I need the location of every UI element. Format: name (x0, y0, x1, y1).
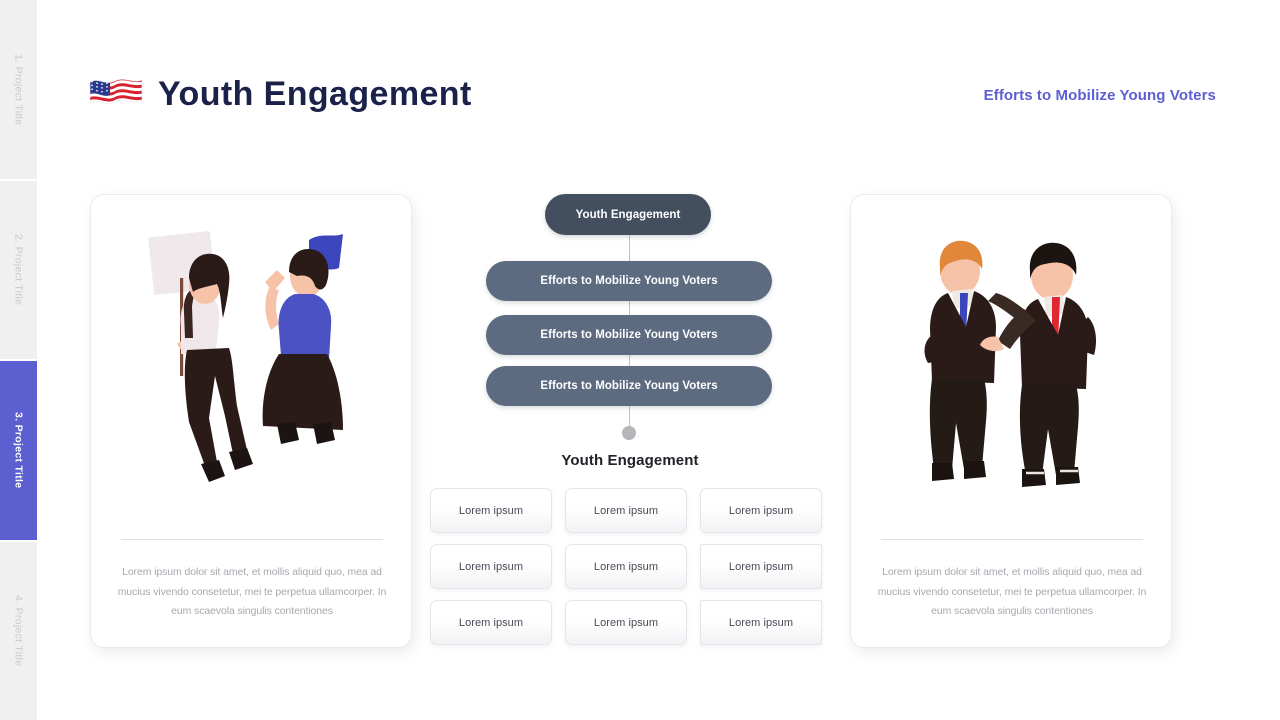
sidebar-item-project-4[interactable]: 4. Project Title (0, 542, 37, 720)
sidebar-item-project-2[interactable]: 2. Project Title (0, 181, 37, 360)
sidebar-item-label: 4. Project Title (13, 595, 25, 666)
flow-branch-node-1[interactable]: Efforts to Mobilize Young Voters (486, 261, 772, 301)
flow-branch-node-2[interactable]: Efforts to Mobilize Young Voters (486, 315, 772, 355)
grid-card[interactable]: Lorem ipsum (430, 488, 552, 533)
grid-card[interactable]: Lorem ipsum (700, 488, 822, 533)
sidebar-item-label: 3. Project Title (13, 412, 25, 488)
flow-branch-node-3[interactable]: Efforts to Mobilize Young Voters (486, 366, 772, 406)
sidebar-item-label: 2. Project Title (13, 234, 25, 305)
us-flag-icon (88, 74, 144, 114)
title-group: Youth Engagement (88, 74, 472, 114)
two-women-protesting-illustration (91, 221, 412, 521)
grid-card[interactable]: Lorem ipsum (565, 488, 687, 533)
page-title: Youth Engagement (158, 75, 472, 114)
flow-root-node[interactable]: Youth Engagement (545, 194, 711, 235)
two-businessmen-shaking-hands-illustration (851, 221, 1172, 521)
flow-end-dot-icon (622, 426, 636, 440)
grid-card[interactable]: Lorem ipsum (430, 600, 552, 645)
sidebar-item-project-1[interactable]: 1. Project Title (0, 0, 37, 179)
slide-canvas: 1. Project Title 2. Project Title 3. Pro… (0, 0, 1280, 720)
left-card-body: Lorem ipsum dolor sit amet, et mollis al… (113, 563, 391, 622)
right-card-body: Lorem ipsum dolor sit amet, et mollis al… (873, 563, 1151, 622)
center-section-heading: Youth Engagement (430, 452, 830, 469)
grid-card[interactable]: Lorem ipsum (430, 544, 552, 589)
lorem-card-grid: Lorem ipsum Lorem ipsum Lorem ipsum Lore… (430, 488, 830, 645)
flow-diagram: Youth Engagement Efforts to Mobilize You… (430, 194, 830, 444)
grid-card[interactable]: Lorem ipsum (700, 600, 822, 645)
center-column: Youth Engagement Efforts to Mobilize You… (430, 194, 830, 654)
sidebar-item-label: 1. Project Title (13, 54, 25, 125)
header-subtitle: Efforts to Mobilize Young Voters (984, 87, 1216, 104)
grid-card[interactable]: Lorem ipsum (565, 544, 687, 589)
slide-header: Youth Engagement Efforts to Mobilize You… (88, 74, 1218, 132)
panel-divider (121, 539, 383, 540)
right-content-card: Lorem ipsum dolor sit amet, et mollis al… (850, 194, 1172, 648)
sidebar-item-project-3[interactable]: 3. Project Title (0, 361, 37, 540)
left-content-card: Lorem ipsum dolor sit amet, et mollis al… (90, 194, 412, 648)
grid-card[interactable]: Lorem ipsum (565, 600, 687, 645)
sidebar-tab-rail: 1. Project Title 2. Project Title 3. Pro… (0, 0, 37, 720)
grid-card[interactable]: Lorem ipsum (700, 544, 822, 589)
panel-divider (881, 539, 1143, 540)
